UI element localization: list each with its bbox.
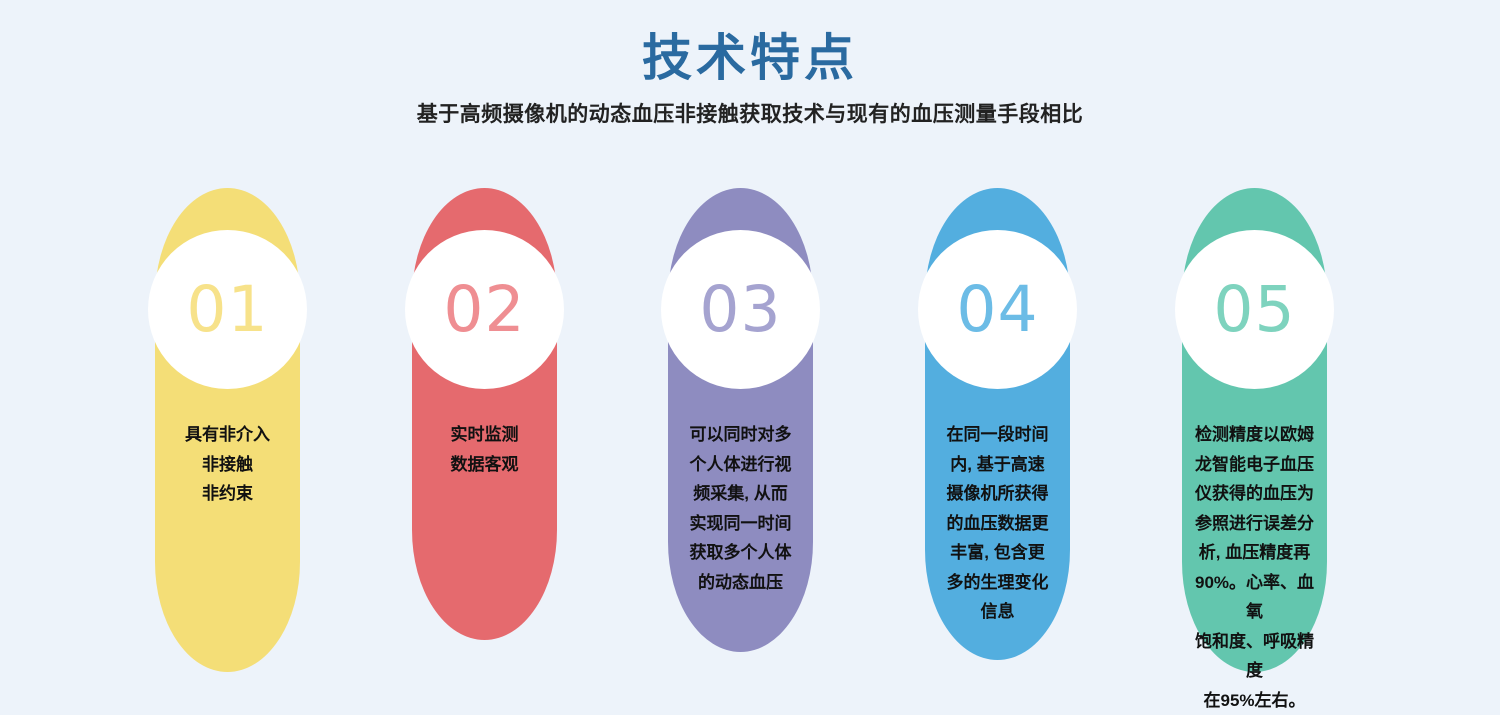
card-circle-03: 03: [661, 230, 820, 389]
card-text-03: 可以同时对多 个人体进行视 频采集, 从而 实现同一时间 获取多个人体 的动态血…: [674, 420, 807, 597]
card-number-02: 02: [443, 278, 525, 341]
card-circle-01: 01: [148, 230, 307, 389]
card-text-04: 在同一段时间 内, 基于高速 摄像机所获得 的血压数据更 丰富, 包含更 多的生…: [931, 420, 1064, 627]
infographic-page: 技术特点 基于高频摄像机的动态血压非接触获取技术与现有的血压测量手段相比 01 …: [0, 0, 1500, 709]
card-text-01: 具有非介入 非接触 非约束: [161, 420, 294, 509]
card-number-05: 05: [1213, 278, 1295, 341]
card-text-02: 实时监测 数据客观: [418, 420, 551, 479]
feature-cards-row: 01 具有非介入 非接触 非约束 02 实时监测 数据客观 03 可以同时对多 …: [0, 188, 1500, 688]
card-circle-05: 05: [1175, 230, 1334, 389]
card-circle-02: 02: [405, 230, 564, 389]
card-text-05: 检测精度以欧姆 龙智能电子血压 仪获得的血压为 参照进行误差分 析, 血压精度再…: [1188, 420, 1321, 715]
card-circle-04: 04: [918, 230, 1077, 389]
page-subtitle: 基于高频摄像机的动态血压非接触获取技术与现有的血压测量手段相比: [0, 89, 1500, 129]
header: 技术特点 基于高频摄像机的动态血压非接触获取技术与现有的血压测量手段相比: [0, 0, 1500, 129]
card-number-03: 03: [699, 278, 781, 341]
card-number-01: 01: [186, 278, 268, 341]
card-number-04: 04: [956, 278, 1038, 341]
page-title: 技术特点: [0, 0, 1500, 89]
